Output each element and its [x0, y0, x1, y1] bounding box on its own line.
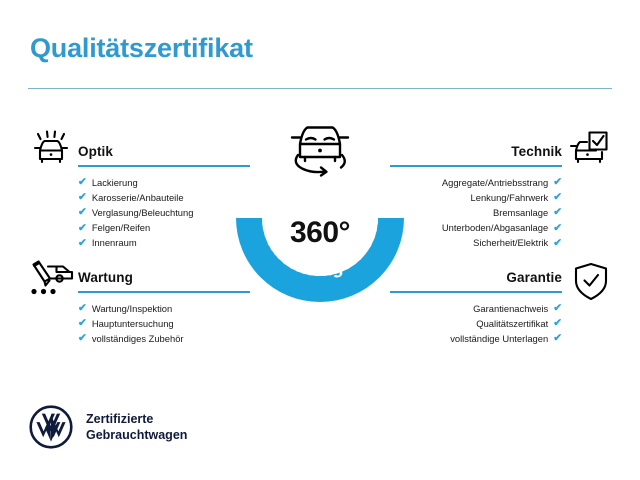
footer-brand-text: Zertifizierte Gebrauchtwagen — [86, 411, 187, 444]
list-item: Garantienachweis✔ — [390, 301, 562, 316]
list-item: vollständige Unterlagen✔ — [390, 331, 562, 346]
list-item-label: Aggregate/Antriebsstrang — [442, 175, 548, 190]
check-icon: ✔ — [553, 207, 562, 218]
section-divider-optik — [78, 165, 250, 167]
check-icon: ✔ — [553, 303, 562, 314]
list-item-label: Wartung/Inspektion — [92, 301, 172, 316]
list-item: Unterboden/Abgasanlage✔ — [390, 220, 562, 235]
section-technik: Technik Aggregate/Antriebsstrang✔ Lenkun… — [390, 144, 562, 267]
section-divider-garantie — [390, 291, 562, 293]
check-icon: ✔ — [553, 177, 562, 188]
section-divider-technik — [390, 165, 562, 167]
list-item: ✔vollständiges Zubehör — [78, 331, 250, 346]
list-item: Aggregate/Antriebsstrang✔ — [390, 175, 562, 190]
check-icon: ✔ — [553, 333, 562, 344]
list-item-label: Bremsanlage — [493, 205, 548, 220]
section-list-optik: ✔Lackierung ✔Karosserie/Anbauteile ✔Verg… — [78, 175, 250, 251]
check-icon: ✔ — [78, 303, 87, 314]
section-list-technik: Aggregate/Antriebsstrang✔ Lenkung/Fahrwe… — [390, 175, 562, 251]
list-item: Bremsanlage✔ — [390, 205, 562, 220]
badge-360-gebrauchtwagen-check: Gebrauchtwagen-Check 360° — [236, 112, 404, 304]
list-item-label: Garantienachweis — [473, 301, 548, 316]
list-item: ✔Verglasung/Beleuchtung — [78, 205, 250, 220]
pen-car-checklist-icon — [26, 258, 76, 309]
footer-brand: Zertifizierte Gebrauchtwagen — [28, 404, 187, 450]
car-checkbox-icon — [566, 128, 612, 179]
list-item-label: Qualitätszertifikat — [476, 316, 548, 331]
check-icon: ✔ — [553, 238, 562, 249]
section-divider-wartung — [78, 291, 250, 293]
list-item-label: Lenkung/Fahrwerk — [471, 190, 549, 205]
list-item: Sicherheit/Elektrik✔ — [390, 235, 562, 250]
check-icon: ✔ — [78, 318, 87, 329]
list-item-label: Innenraum — [92, 235, 137, 250]
list-item-label: Sicherheit/Elektrik — [473, 235, 548, 250]
badge-center-label: 360° — [236, 216, 404, 250]
list-item-label: Verglasung/Beleuchtung — [92, 205, 194, 220]
list-item-label: Felgen/Reifen — [92, 220, 150, 235]
check-icon: ✔ — [553, 318, 562, 329]
section-garantie: Garantie Garantienachweis✔ Qualitätszert… — [390, 270, 562, 362]
list-item-label: vollständige Unterlagen — [450, 331, 548, 346]
list-item: Qualitätszertifikat✔ — [390, 316, 562, 331]
car-front-shine-icon — [28, 126, 74, 177]
vw-logo — [28, 404, 74, 450]
check-icon: ✔ — [78, 238, 87, 249]
certificate-page: Qualitätszertifikat Optik ✔Lackierung ✔K… — [0, 0, 640, 480]
list-item: ✔Innenraum — [78, 235, 250, 250]
list-item-label: Karosserie/Anbauteile — [92, 190, 184, 205]
list-item: Lenkung/Fahrwerk✔ — [390, 190, 562, 205]
section-heading-garantie: Garantie — [390, 270, 562, 286]
section-heading-technik: Technik — [390, 144, 562, 160]
car-rotation-360-icon — [280, 112, 360, 187]
section-heading-wartung: Wartung — [78, 270, 250, 286]
section-optik: Optik ✔Lackierung ✔Karosserie/Anbauteile… — [78, 144, 250, 267]
list-item-label: Hauptuntersuchung — [92, 316, 174, 331]
check-icon: ✔ — [553, 223, 562, 234]
check-icon: ✔ — [78, 223, 87, 234]
section-list-wartung: ✔Wartung/Inspektion ✔Hauptuntersuchung ✔… — [78, 301, 250, 347]
list-item: ✔Felgen/Reifen — [78, 220, 250, 235]
list-item: ✔Lackierung — [78, 175, 250, 190]
check-icon: ✔ — [553, 192, 562, 203]
section-wartung: Wartung ✔Wartung/Inspektion ✔Hauptunters… — [78, 270, 250, 362]
list-item-label: Lackierung — [92, 175, 138, 190]
list-item: ✔Karosserie/Anbauteile — [78, 190, 250, 205]
section-list-garantie: Garantienachweis✔ Qualitätszertifikat✔ v… — [390, 301, 562, 347]
list-item: ✔Hauptuntersuchung — [78, 316, 250, 331]
section-heading-optik: Optik — [78, 144, 250, 160]
check-icon: ✔ — [78, 333, 87, 344]
check-icon: ✔ — [78, 192, 87, 203]
list-item-label: Unterboden/Abgasanlage — [442, 220, 548, 235]
check-icon: ✔ — [78, 207, 87, 218]
title-divider — [28, 88, 612, 89]
check-icon: ✔ — [78, 177, 87, 188]
shield-check-icon — [570, 260, 612, 309]
list-item: ✔Wartung/Inspektion — [78, 301, 250, 316]
list-item-label: vollständiges Zubehör — [92, 331, 184, 346]
page-title: Qualitätszertifikat — [30, 33, 253, 64]
